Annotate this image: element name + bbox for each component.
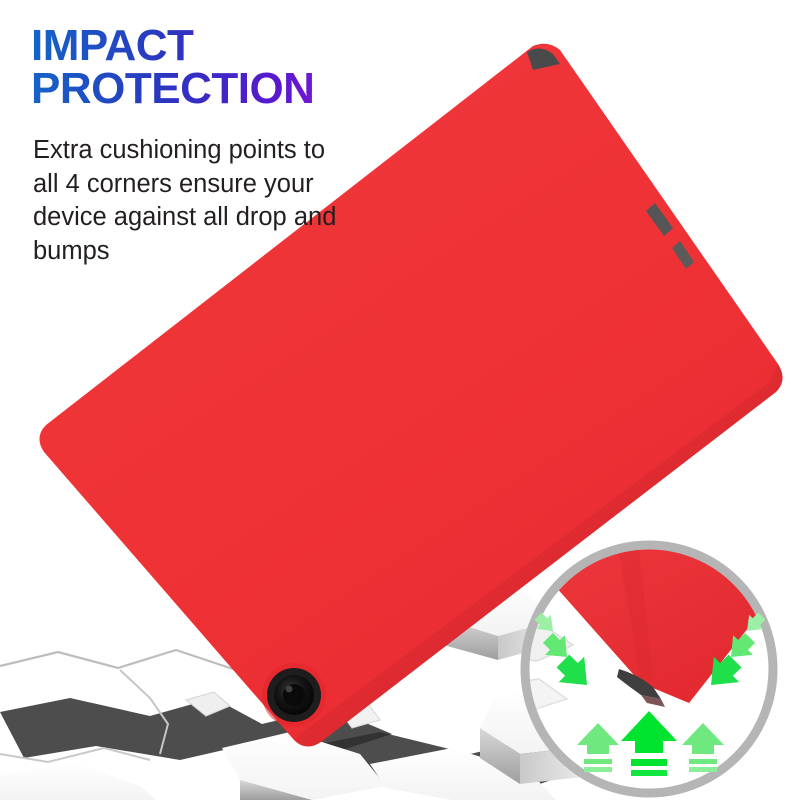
- page-title: IMPACT PROTECTION: [31, 24, 451, 110]
- body-description: Extra cushioning points to all 4 corners…: [33, 134, 353, 269]
- product-marketing-image: IMPACT PROTECTION Extra cushioning point…: [0, 0, 800, 800]
- camera-module: [262, 663, 326, 727]
- magnifier-callout: [513, 533, 785, 800]
